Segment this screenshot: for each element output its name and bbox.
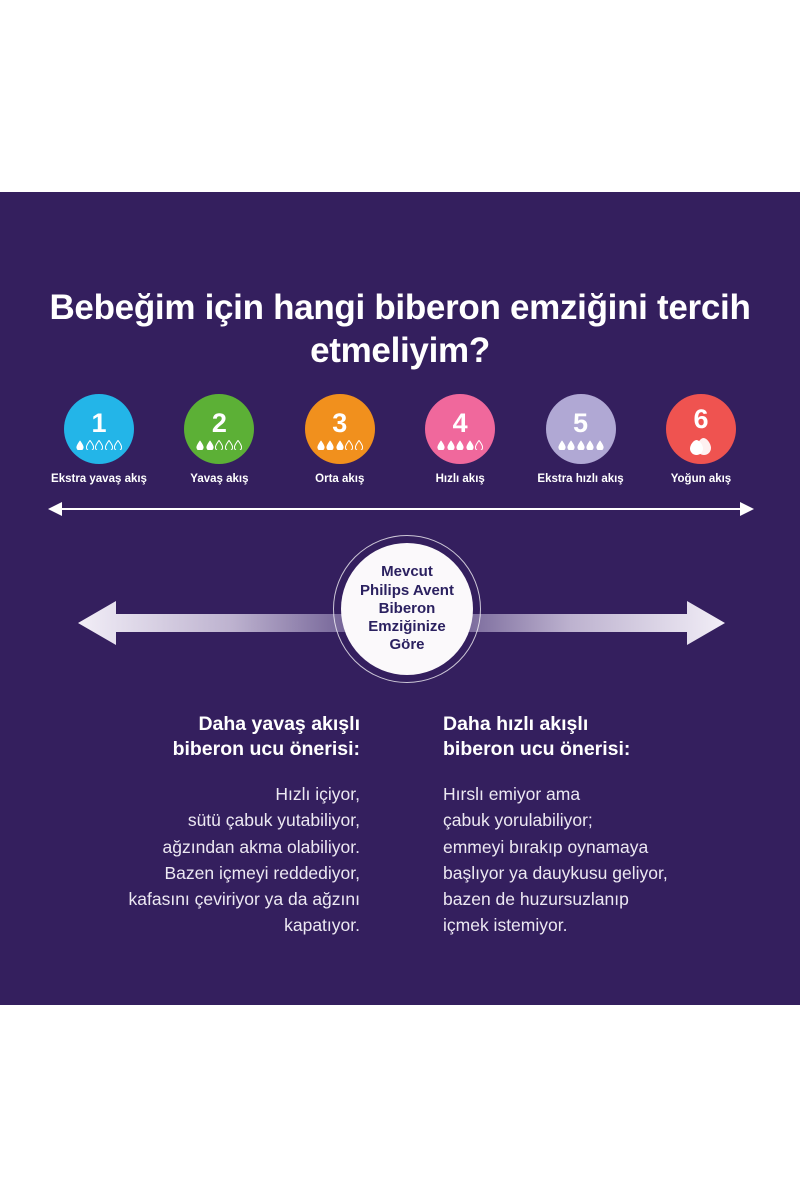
droplet-icon — [206, 440, 214, 450]
faster-flow-column: Daha hızlı akışlıbiberon ucu önerisi: Hı… — [443, 712, 753, 939]
faster-flow-body: Hırslı emiyor amaçabuk yorulabiliyor;emm… — [443, 781, 753, 939]
purple-panel: Bebeğim için hangi biberon emziğini terc… — [0, 192, 800, 1005]
infographic-page: Bebeğim için hangi biberon emziğini terc… — [0, 0, 800, 1200]
slower-flow-heading: Daha yavaş akışlıbiberon ucu önerisi: — [50, 712, 360, 761]
droplet-icon — [475, 440, 483, 450]
flow-level-number: 6 — [693, 406, 708, 433]
droplet-icon — [567, 440, 575, 450]
faster-heading-line2: biberon ucu önerisi: — [443, 738, 630, 760]
hub-text-line: Göre — [389, 636, 424, 653]
flow-level-circle[interactable]: 5 — [546, 394, 616, 464]
hub-label: MevcutPhilips AventBiberonEmziğinizeGöre — [354, 563, 460, 654]
droplet-icon — [317, 440, 325, 450]
droplet-icon — [437, 440, 445, 450]
flow-level-number: 2 — [212, 410, 227, 437]
droplet-icon — [225, 440, 233, 450]
droplet-icon — [345, 440, 353, 450]
droplet-icon — [558, 440, 566, 450]
droplet-icon — [355, 440, 363, 450]
flow-level-label: Orta akış — [315, 473, 364, 485]
droplet-icon — [336, 440, 344, 450]
faster-body-line: bazen de huzursuzlanıp — [443, 889, 629, 909]
droplet-icon — [586, 440, 594, 450]
flow-level-circle[interactable]: 3 — [305, 394, 375, 464]
slower-body-line: ağzından akma olabiliyor. — [163, 837, 360, 857]
droplet-icon — [577, 440, 585, 450]
slower-body-line: Hızlı içiyor, — [275, 784, 360, 804]
faster-flow-heading: Daha hızlı akışlıbiberon ucu önerisi: — [443, 712, 753, 761]
flow-level-circle[interactable]: 4 — [425, 394, 495, 464]
faster-body-line: Hırslı emiyor ama — [443, 784, 580, 804]
flow-level-circle[interactable]: 2 — [184, 394, 254, 464]
slower-flow-column: Daha yavaş akışlıbiberon ucu önerisi: Hı… — [50, 712, 360, 939]
droplet-icon — [234, 440, 242, 450]
droplet-indicator — [196, 440, 242, 451]
faster-heading-suffix: akışlı — [539, 713, 588, 735]
droplet-icon — [215, 440, 223, 450]
droplet-indicator — [437, 440, 483, 451]
droplet-icon — [95, 440, 103, 450]
faster-body-line: çabuk yorulabiliyor; — [443, 810, 593, 830]
slower-body-line: sütü çabuk yutabiliyor, — [188, 810, 360, 830]
droplet-indicator — [317, 440, 363, 451]
droplet-icon — [114, 440, 122, 450]
droplet-icon — [456, 440, 464, 450]
flow-level-item: 3Orta akış — [281, 394, 399, 485]
hub-text-line: Emziğinize — [368, 618, 446, 635]
droplet-icon — [447, 440, 455, 450]
hub-text-line: Biberon — [379, 600, 436, 617]
current-teat-hub: MevcutPhilips AventBiberonEmziğinizeGöre — [341, 543, 473, 675]
slower-heading-line1: Daha yavaş akışlı — [198, 713, 360, 735]
faster-body-line: başlıyor ya dauykusu geliyor, — [443, 863, 668, 883]
droplet-icon — [196, 440, 204, 450]
faster-heading-emphasis: hızlı — [496, 713, 534, 735]
flow-level-number: 1 — [91, 410, 106, 437]
flow-level-number: 3 — [332, 410, 347, 437]
slower-flow-body: Hızlı içiyor,sütü çabuk yutabiliyor,ağzı… — [50, 781, 360, 939]
flow-level-item: 5Ekstra hızlı akış — [522, 394, 640, 485]
flow-level-item: 2Yavaş akış — [160, 394, 278, 485]
slower-body-line: Bazen içmeyi reddediyor, — [164, 863, 360, 883]
slower-body-line: kapatıyor. — [284, 915, 360, 935]
flow-level-item: 1Ekstra yavaş akış — [40, 394, 158, 485]
flow-level-item: 6Yoğun akış — [642, 394, 760, 485]
droplet-icon — [76, 440, 84, 450]
faster-body-line: emmeyi bırakıp oynamaya — [443, 837, 648, 857]
flow-level-circle[interactable]: 1 — [64, 394, 134, 464]
flow-level-item: 4Hızlı akış — [401, 394, 519, 485]
droplet-icon — [326, 440, 334, 450]
hub-text-line: Philips Avent — [360, 582, 454, 599]
flow-scale-arrow-icon — [48, 501, 754, 517]
slower-heading-line2: biberon ucu önerisi: — [173, 738, 360, 760]
thick-feed-icon — [686, 435, 716, 455]
droplet-icon — [86, 440, 94, 450]
droplet-icon — [105, 440, 113, 450]
flow-level-label: Yoğun akış — [671, 473, 732, 485]
slower-body-line: kafasını çeviriyor ya da ağzını — [129, 889, 361, 909]
faster-body-line: içmek istemiyor. — [443, 915, 567, 935]
droplet-icon — [466, 440, 474, 450]
page-title: Bebeğim için hangi biberon emziğini terc… — [40, 287, 760, 372]
droplet-indicator — [76, 440, 122, 451]
flow-level-number: 5 — [573, 410, 588, 437]
hub-text-line: Mevcut — [381, 563, 433, 580]
flow-level-row: 1Ekstra yavaş akış2Yavaş akış3Orta akış4… — [40, 394, 760, 485]
flow-level-label: Ekstra hızlı akış — [537, 473, 623, 485]
droplet-icon — [596, 440, 604, 450]
faster-direction-arrow-icon — [445, 599, 725, 647]
flow-level-circle[interactable]: 6 — [666, 394, 736, 464]
flow-level-label: Yavaş akış — [190, 473, 248, 485]
flow-level-number: 4 — [453, 410, 468, 437]
droplet-indicator — [558, 440, 604, 451]
flow-level-label: Ekstra yavaş akış — [51, 473, 147, 485]
flow-level-label: Hızlı akış — [436, 473, 485, 485]
slower-direction-arrow-icon — [78, 599, 358, 647]
faster-heading-prefix: Daha — [443, 713, 491, 735]
